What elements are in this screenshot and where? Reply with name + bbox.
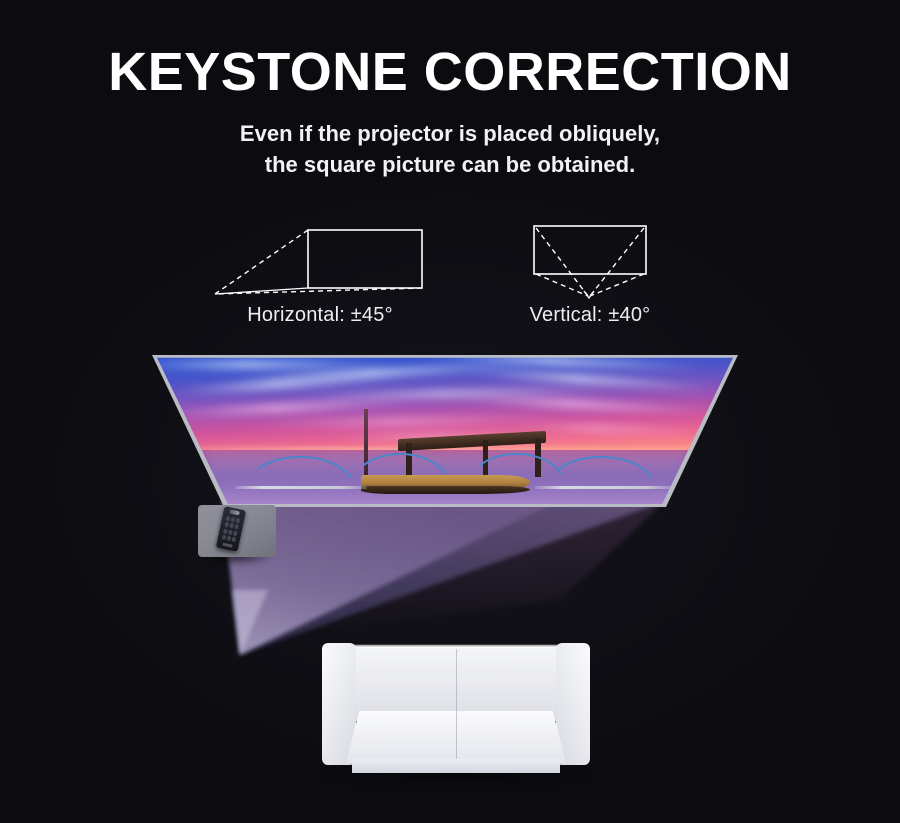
projector-logo <box>222 543 232 548</box>
projector-key <box>229 523 234 529</box>
projector-key <box>222 534 227 540</box>
keystone-label-horizontal: Horizontal: ±45° <box>180 304 460 327</box>
subtitle-line-1: Even if the projector is placed obliquel… <box>0 118 900 149</box>
horizontal-keystone-icon <box>180 212 460 302</box>
vertical-keystone-icon <box>450 212 730 302</box>
white-sofa <box>322 643 590 783</box>
side-table <box>198 505 276 557</box>
boat-canopy <box>398 431 546 452</box>
projection-screen <box>145 352 745 510</box>
outrigger-float-right <box>535 486 672 489</box>
projected-photo <box>145 352 745 510</box>
projector-key <box>224 522 229 528</box>
outrigger-float-left <box>235 486 367 489</box>
sofa-top-highlight <box>340 645 572 648</box>
projector-key <box>232 536 237 542</box>
sofa-base <box>352 759 560 773</box>
keystone-label-vertical: Vertical: ±40° <box>450 304 730 327</box>
keystone-correction-page: KEYSTONE CORRECTION Even if the projecto… <box>0 0 900 823</box>
screen-image-area <box>145 352 745 510</box>
projector-key <box>231 517 236 523</box>
projector-keypad <box>222 516 241 542</box>
vertical-keystone-figure <box>450 212 730 302</box>
projector-key <box>235 518 240 524</box>
outrigger-boat <box>319 431 583 504</box>
projector-lens <box>229 509 240 515</box>
sofa-seat-cushions <box>346 711 566 763</box>
horizontal-keystone-figure <box>180 212 460 302</box>
subtitle-line-2: the square picture can be obtained. <box>0 149 900 180</box>
page-title: KEYSTONE CORRECTION <box>0 44 900 101</box>
projector-key <box>233 530 238 536</box>
keystone-icon-row: Horizontal: ±45° Vertical: ±40° <box>0 212 900 337</box>
projector-key <box>226 516 231 522</box>
projection-scene <box>0 340 900 823</box>
page-subtitle: Even if the projector is placed obliquel… <box>0 118 900 180</box>
boat-hull-shadow <box>361 486 530 494</box>
projector-key <box>234 524 239 530</box>
sofa-backrest <box>340 647 572 721</box>
projector-key <box>227 535 232 541</box>
keystone-item-vertical: Vertical: ±40° <box>450 212 730 337</box>
keystone-item-horizontal: Horizontal: ±45° <box>180 212 460 337</box>
